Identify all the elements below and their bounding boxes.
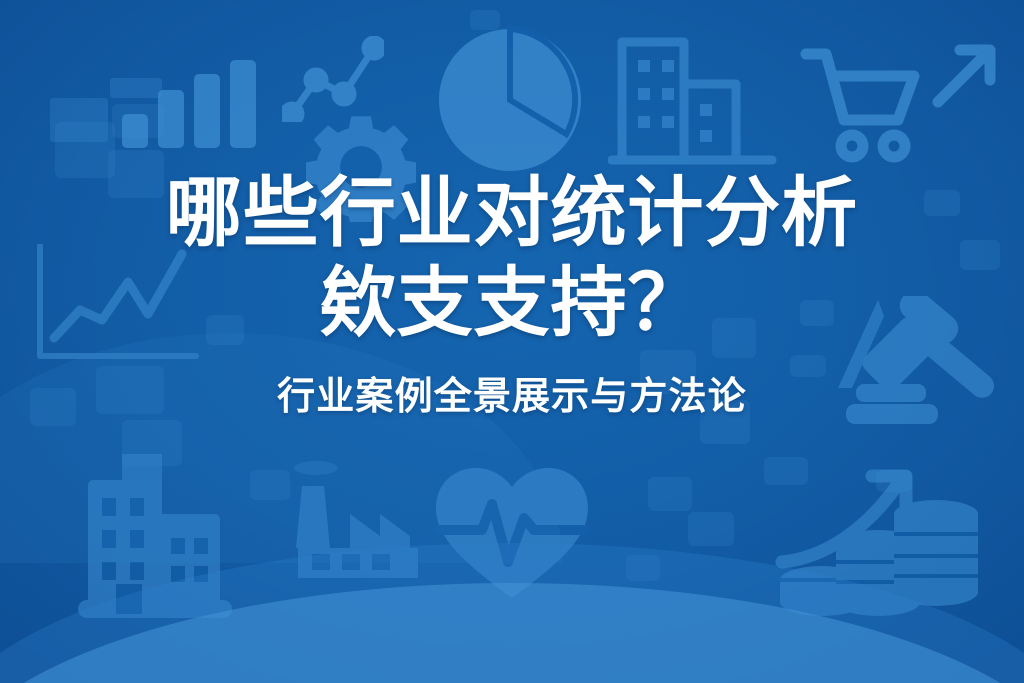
subtitle: 行业案例全景展示与方法论 [0,375,1024,421]
headline-block: 哪些行业对统计分析 欸支支持？ 行业案例全景展示与方法论 [0,172,1024,421]
pie-chart-icon [436,26,584,174]
decorative-square [688,512,734,546]
decorative-square [648,477,692,511]
headline-line-2: 欸支支持？ [0,262,1024,346]
headline-line-1: 哪些行业对统计分析 [0,172,1024,256]
arrow-up-right-icon [930,40,1000,110]
bar-chart-icon [120,58,266,148]
scatter-network-icon [282,36,384,122]
poster-canvas: 哪些行业对统计分析 欸支支持？ 行业案例全景展示与方法论 [0,0,1024,683]
office-buildings-icon [608,28,778,168]
decorative-square [55,122,115,178]
shopping-cart-icon [800,46,928,164]
